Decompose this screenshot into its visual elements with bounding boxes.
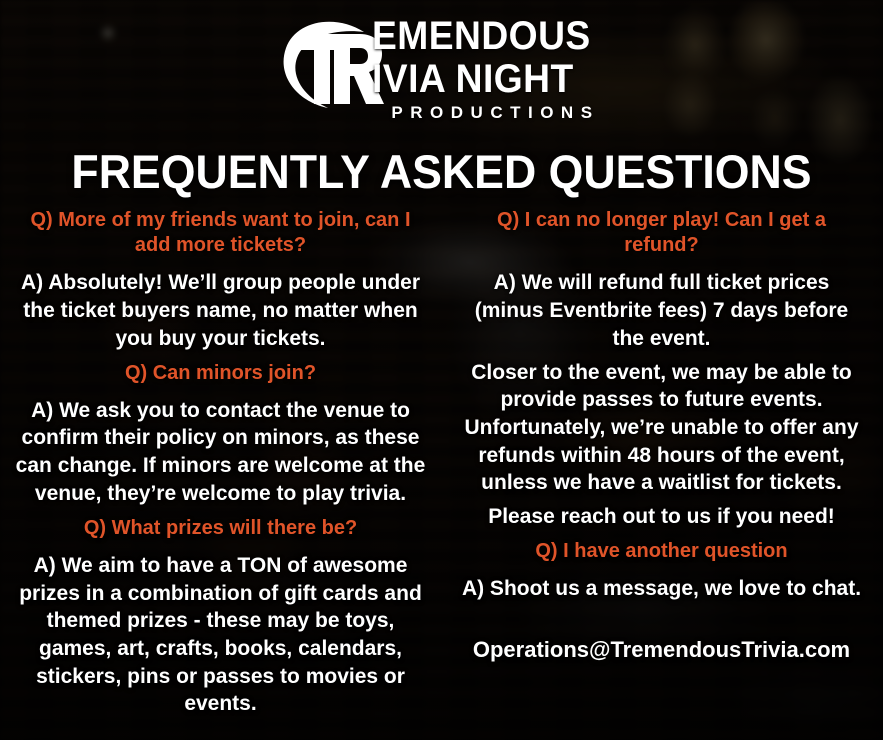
page-title: FREQUENTLY ASKED QUESTIONS — [22, 144, 861, 199]
faq-poster: EMENDOUS IVIA NIGHT PRODUCTIONS FREQUENT… — [0, 0, 883, 740]
brand-wordmark: EMENDOUS IVIA NIGHT PRODUCTIONS — [372, 16, 607, 121]
question-add-tickets: Q) More of my friends want to join, can … — [14, 208, 427, 258]
answer-refund-part2: Closer to the event, we may be able to p… — [459, 359, 864, 498]
brand-line-1: EMENDOUS — [372, 16, 591, 56]
answer-prizes: A) We aim to have a TON of awesome prize… — [14, 552, 427, 718]
brand-line-3: PRODUCTIONS — [379, 104, 599, 121]
faq-columns: Q) More of my friends want to join, can … — [0, 208, 883, 718]
answer-add-tickets: A) Absolutely! We’ll group people under … — [14, 269, 427, 352]
faq-column-right: Q) I can no longer play! Can I get a ref… — [441, 208, 882, 718]
brand-logo: EMENDOUS IVIA NIGHT PRODUCTIONS — [0, 12, 883, 124]
answer-refund-part3: Please reach out to us if you need! — [459, 503, 864, 531]
contact-email[interactable]: Operations@TremendousTrivia.com — [459, 637, 864, 663]
question-refund: Q) I can no longer play! Can I get a ref… — [459, 208, 864, 258]
question-prizes: Q) What prizes will there be? — [14, 516, 427, 541]
faq-column-left: Q) More of my friends want to join, can … — [0, 208, 441, 718]
brand-line-2: IVIA NIGHT — [372, 59, 574, 99]
answer-refund-part1: A) We will refund full ticket prices (mi… — [459, 269, 864, 352]
answer-minors: A) We ask you to contact the venue to co… — [14, 397, 427, 508]
answer-another: A) Shoot us a message, we love to chat. — [459, 575, 864, 603]
poster-content: EMENDOUS IVIA NIGHT PRODUCTIONS FREQUENT… — [0, 0, 883, 740]
question-another: Q) I have another question — [459, 539, 864, 564]
question-minors: Q) Can minors join? — [14, 361, 427, 386]
